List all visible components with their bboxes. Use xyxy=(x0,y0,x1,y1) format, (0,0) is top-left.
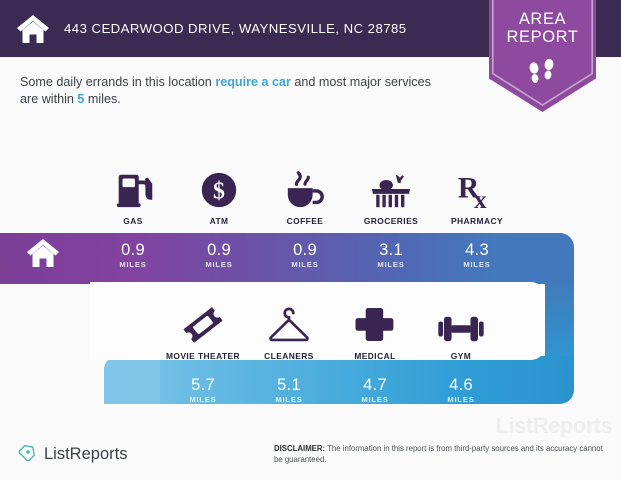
category-coffee: COFFEE xyxy=(262,160,348,226)
category-gas-label: GAS xyxy=(123,216,143,226)
disclaimer: DISCLAIMER: The information in this repo… xyxy=(274,444,604,465)
badge-title-line2: REPORT xyxy=(489,28,596,46)
category-cleaners: CLEANERS xyxy=(246,297,332,361)
category-coffee-label: COFFEE xyxy=(287,216,324,226)
distance-gym-unit: MILES xyxy=(447,395,474,404)
distance-atm-value: 0.9 xyxy=(207,241,231,259)
groceries-basket-icon xyxy=(369,165,413,211)
distance-groceries-value: 3.1 xyxy=(379,241,403,259)
distance-coffee: 0.9 MILES xyxy=(262,233,348,277)
distance-value-row-1: 0.9 MILES 0.9 MILES 0.9 MILES 3.1 MILES … xyxy=(90,233,520,277)
distance-coffee-unit: MILES xyxy=(291,260,318,269)
distance-pharmacy-unit: MILES xyxy=(463,260,490,269)
svg-text:$: $ xyxy=(213,179,225,205)
category-medical: MEDICAL xyxy=(332,297,418,361)
distance-value-row-2: 5.7 MILES 5.1 MILES 4.7 MILES 4.6 MILES xyxy=(160,368,520,412)
distance-atm: 0.9 MILES xyxy=(176,233,262,277)
watermark: ListReports xyxy=(489,416,619,436)
distance-cleaners-unit: MILES xyxy=(275,395,302,404)
distance-gas-value: 0.9 xyxy=(121,241,145,259)
distance-cleaners-value: 5.1 xyxy=(277,376,301,394)
category-groceries-label: GROCERIES xyxy=(364,216,418,226)
distance-movie-theater: 5.7 MILES xyxy=(160,368,246,412)
distance-gym-value: 4.6 xyxy=(449,376,473,394)
distance-pharmacy: 4.3 MILES xyxy=(434,233,520,277)
distance-medical-unit: MILES xyxy=(361,395,388,404)
category-movie-theater-label: MOVIE THEATER xyxy=(166,351,240,361)
distance-groceries: 3.1 MILES xyxy=(348,233,434,277)
clothes-hanger-icon xyxy=(266,300,312,346)
gas-pump-icon xyxy=(112,165,154,211)
footprints-icon xyxy=(489,58,596,93)
movie-ticket-icon xyxy=(181,300,225,346)
listreports-logo-text: ListReports xyxy=(44,445,127,464)
distance-groceries-unit: MILES xyxy=(377,260,404,269)
distance-atm-unit: MILES xyxy=(205,260,232,269)
medical-cross-icon xyxy=(355,300,395,346)
category-pharmacy: R x PHARMACY xyxy=(434,160,520,226)
intro-text-part1: Some daily errands in this location xyxy=(20,75,215,89)
distance-movie-theater-value: 5.7 xyxy=(191,376,215,394)
listreports-house-icon xyxy=(18,442,38,467)
distance-pharmacy-value: 4.3 xyxy=(465,241,489,259)
distance-gym: 4.6 MILES xyxy=(418,368,504,412)
page-title: 443 CEDARWOOD DRIVE, WAYNESVILLE, NC 287… xyxy=(64,21,407,36)
atm-dollar-icon: $ xyxy=(198,165,240,211)
intro-text-part3: miles. xyxy=(84,92,120,106)
category-gym: GYM xyxy=(418,297,504,361)
category-cleaners-label: CLEANERS xyxy=(264,351,314,361)
category-icon-row-2: MOVIE THEATER CLEANERS MEDICAL xyxy=(160,297,520,361)
distance-coffee-value: 0.9 xyxy=(293,241,317,259)
pharmacy-rx-icon: R x xyxy=(456,165,498,211)
disclaimer-label: DISCLAIMER: xyxy=(274,444,325,453)
category-medical-label: MEDICAL xyxy=(354,351,395,361)
category-gym-label: GYM xyxy=(451,351,471,361)
category-atm: $ ATM xyxy=(176,160,262,226)
category-gas: GAS xyxy=(90,160,176,226)
category-atm-label: ATM xyxy=(210,216,229,226)
distance-movie-theater-unit: MILES xyxy=(189,395,216,404)
category-groceries: GROCERIES xyxy=(348,160,434,226)
listreports-logo[interactable]: ListReports xyxy=(18,442,127,467)
badge-title-line1: AREA xyxy=(489,10,596,28)
distance-gas-unit: MILES xyxy=(119,260,146,269)
distance-medical-value: 4.7 xyxy=(363,376,387,394)
distance-medical: 4.7 MILES xyxy=(332,368,418,412)
distance-cleaners: 5.1 MILES xyxy=(246,368,332,412)
category-movie-theater: MOVIE THEATER xyxy=(160,297,246,361)
category-icon-row-1: GAS $ ATM COFFEE xyxy=(90,160,520,226)
dumbbell-icon xyxy=(437,300,485,346)
origin-home-icon xyxy=(26,238,60,273)
category-pharmacy-label: PHARMACY xyxy=(451,216,503,226)
distance-gas: 0.9 MILES xyxy=(90,233,176,277)
coffee-cup-icon xyxy=(283,165,327,211)
intro-summary: Some daily errands in this location requ… xyxy=(20,74,440,108)
badge-title: AREA REPORT xyxy=(489,10,596,46)
svg-text:x: x xyxy=(474,187,487,211)
intro-highlight-car: require a car xyxy=(215,75,291,89)
home-icon xyxy=(16,14,50,44)
